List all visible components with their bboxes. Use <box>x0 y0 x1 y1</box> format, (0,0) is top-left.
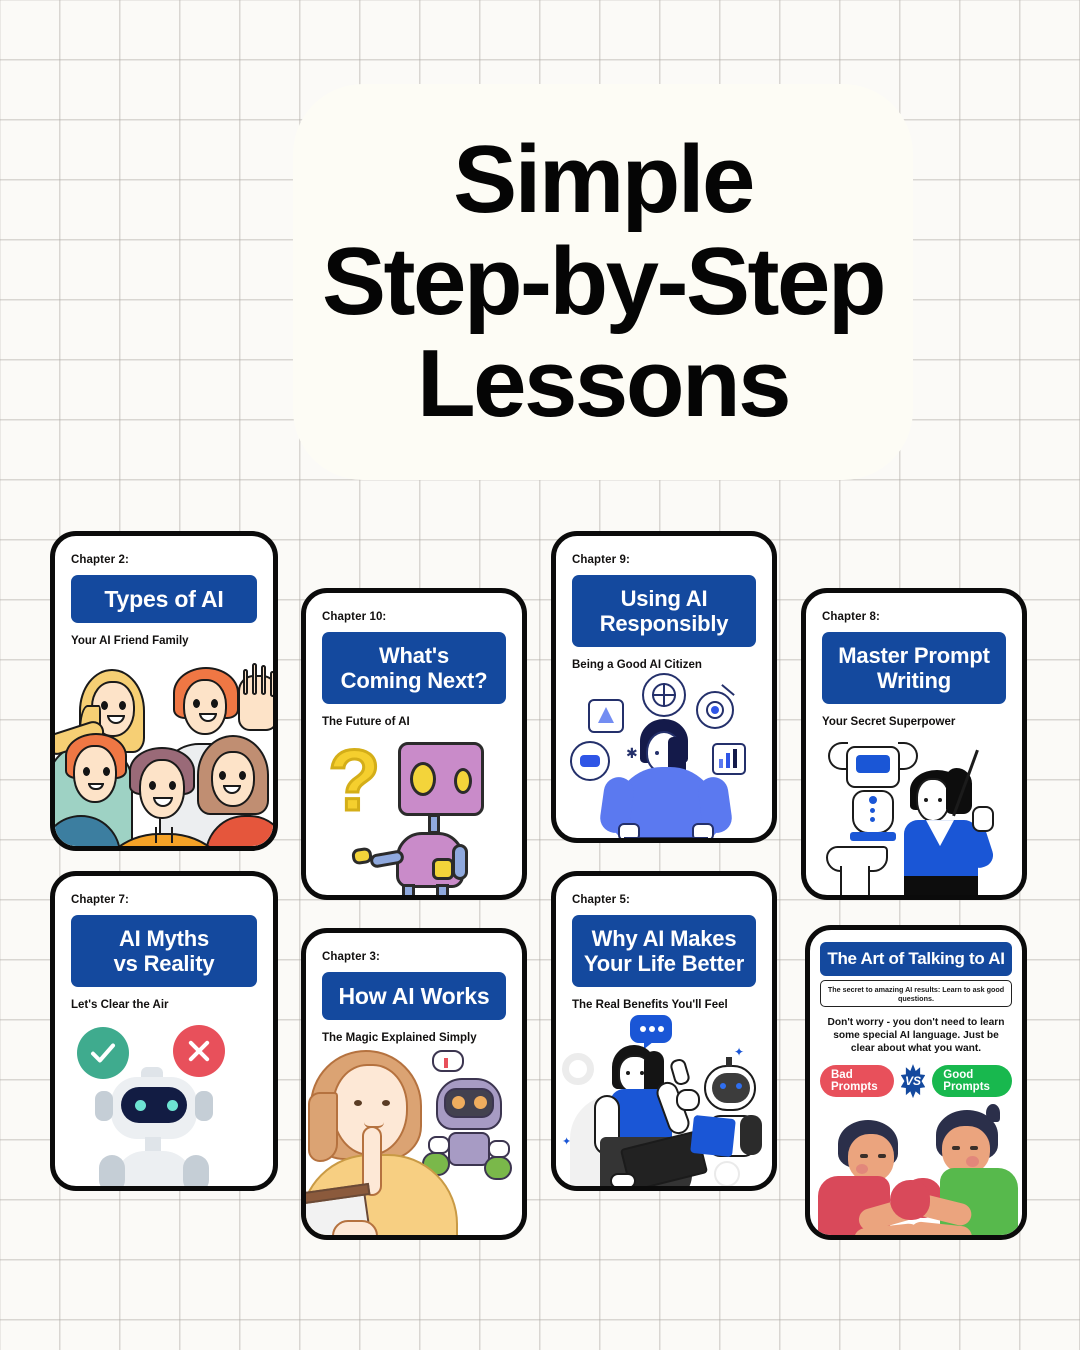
card-title: How AI Works <box>322 972 506 1020</box>
card-title-line-1: Using AI <box>578 586 750 611</box>
card-title-line-2: vs Reality <box>77 951 251 976</box>
card-title-line-2: Writing <box>828 668 1000 693</box>
chapter-label: Chapter 2: <box>71 554 257 566</box>
card-title: The Art of Talking to AI <box>820 942 1012 976</box>
card-body-text: Don't worry - you don't need to learn so… <box>820 1016 1012 1055</box>
illustration-teacher-and-robot <box>806 728 1022 895</box>
chapter-label: Chapter 9: <box>572 554 756 566</box>
card-header: Chapter 9: Using AI Responsibly Being a … <box>556 536 772 671</box>
prompt-comparison-row: Bad Prompts VS Good Prompts <box>820 1064 1012 1098</box>
illustration-responsible-ai: ✱ <box>556 671 772 838</box>
card-title: Types of AI <box>71 575 257 623</box>
lesson-card-art-of-talking[interactable]: The Art of Talking to AI The secret to a… <box>805 925 1027 1240</box>
card-title-line-2: Your Life Better <box>578 951 750 976</box>
card-header: Chapter 7: AI Myths vs Reality Let's Cle… <box>55 876 273 1011</box>
vs-burst-icon: VS <box>901 1064 926 1098</box>
page-title-line-2: Step-by-Step <box>322 231 884 333</box>
chapter-label: Chapter 10: <box>322 611 506 623</box>
chapter-label: Chapter 7: <box>71 894 257 906</box>
card-title-line-2: Coming Next? <box>328 668 500 693</box>
card-title: AI Myths vs Reality <box>71 915 257 987</box>
card-subtitle: The Real Benefits You'll Feel <box>572 999 756 1011</box>
chapter-label: Chapter 5: <box>572 894 756 906</box>
card-header: The Art of Talking to AI The secret to a… <box>810 930 1022 1098</box>
lesson-card-chapter-10[interactable]: Chapter 10: What's Coming Next? The Futu… <box>301 588 527 900</box>
illustration-robot-question-mark: ? <box>306 728 522 895</box>
card-title-line-1: Why AI Makes <box>578 926 750 951</box>
card-header: Chapter 3: How AI Works The Magic Explai… <box>306 933 522 1044</box>
chapter-label: Chapter 3: <box>322 951 506 963</box>
gear-icon <box>562 1053 594 1085</box>
page-title-badge: Simple Step-by-Step Lessons <box>293 84 913 480</box>
illustration-thinking-woman-robot <box>306 1044 522 1235</box>
card-title-line-1: Master Prompt <box>828 643 1000 668</box>
page-title-line-3: Lessons <box>417 333 789 435</box>
card-title-line-1: AI Myths <box>77 926 251 951</box>
chapter-label: Chapter 8: <box>822 611 1006 623</box>
lesson-card-chapter-9[interactable]: Chapter 9: Using AI Responsibly Being a … <box>551 531 777 843</box>
card-subtitle: Let's Clear the Air <box>71 999 257 1011</box>
card-header: Chapter 10: What's Coming Next? The Futu… <box>306 593 522 728</box>
card-subtitle: The Magic Explained Simply <box>322 1032 506 1044</box>
illustration-woman-laptop-robot: ✦ ✦ ✦ <box>556 1011 772 1186</box>
cross-icon <box>173 1025 225 1077</box>
illustration-two-boxers <box>810 1098 1022 1235</box>
card-subtitle: Your AI Friend Family <box>71 635 257 647</box>
card-subtitle-box: The secret to amazing AI results: Learn … <box>820 980 1012 1007</box>
illustration-myths-vs-reality <box>55 1011 273 1186</box>
bad-prompts-badge[interactable]: Bad Prompts <box>820 1065 894 1097</box>
lesson-card-chapter-7[interactable]: Chapter 7: AI Myths vs Reality Let's Cle… <box>50 871 278 1191</box>
card-header: Chapter 2: Types of AI Your AI Friend Fa… <box>55 536 273 647</box>
card-subtitle: Being a Good AI Citizen <box>572 659 756 671</box>
card-title: Master Prompt Writing <box>822 632 1006 704</box>
card-subtitle: The Future of AI <box>322 716 506 728</box>
card-header: Chapter 5: Why AI Makes Your Life Better… <box>556 876 772 1011</box>
card-title: Why AI Makes Your Life Better <box>572 915 756 987</box>
page-title-line-1: Simple <box>453 129 753 231</box>
card-title-line-2: Responsibly <box>578 611 750 636</box>
lesson-card-chapter-8[interactable]: Chapter 8: Master Prompt Writing Your Se… <box>801 588 1027 900</box>
lesson-card-chapter-2[interactable]: Chapter 2: Types of AI Your AI Friend Fa… <box>50 531 278 851</box>
lesson-card-chapter-3[interactable]: Chapter 3: How AI Works The Magic Explai… <box>301 928 527 1240</box>
card-subtitle: Your Secret Superpower <box>822 716 1006 728</box>
card-title: Using AI Responsibly <box>572 575 756 647</box>
card-title-line-1: What's <box>328 643 500 668</box>
card-title: What's Coming Next? <box>322 632 506 704</box>
lesson-card-chapter-5[interactable]: Chapter 5: Why AI Makes Your Life Better… <box>551 871 777 1191</box>
good-prompts-badge[interactable]: Good Prompts <box>932 1065 1012 1097</box>
card-header: Chapter 8: Master Prompt Writing Your Se… <box>806 593 1022 728</box>
check-icon <box>77 1027 129 1079</box>
illustration-group-of-friends <box>55 647 273 846</box>
